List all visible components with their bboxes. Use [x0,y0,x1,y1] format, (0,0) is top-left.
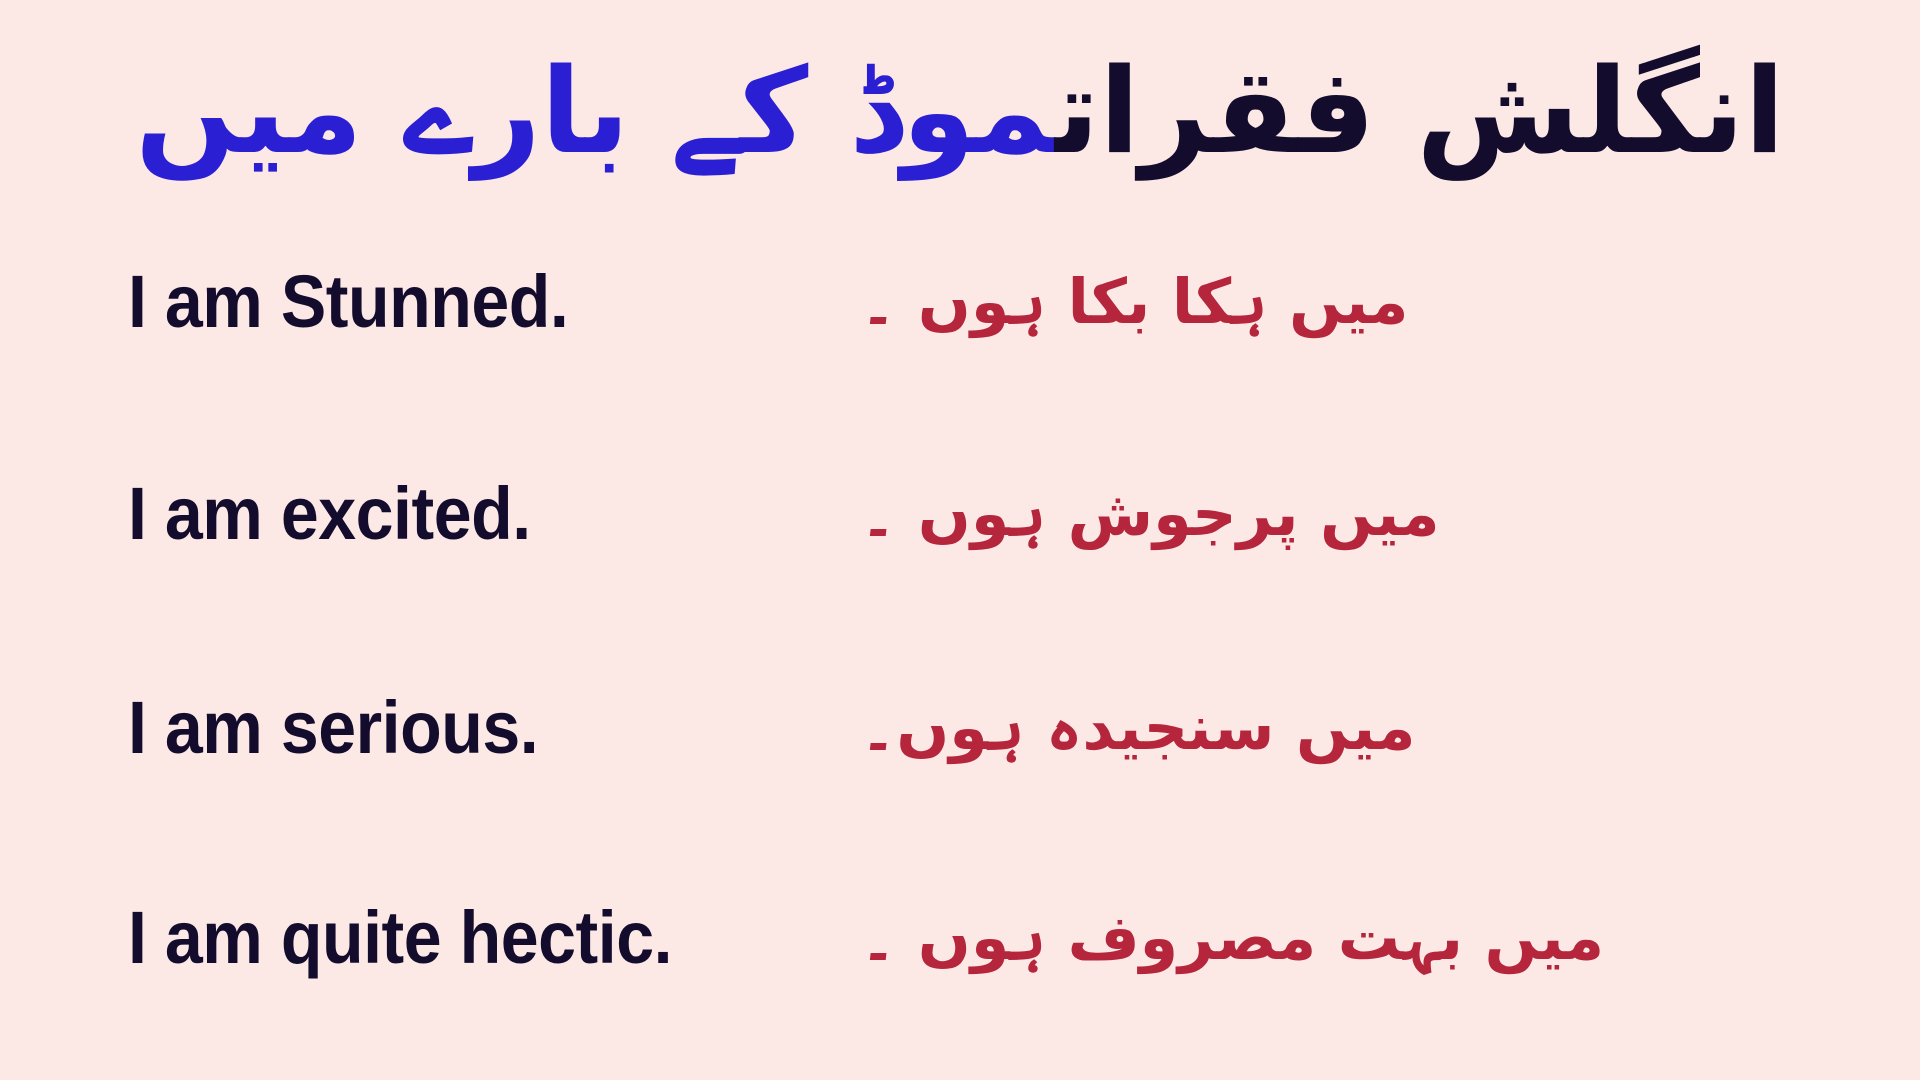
title-line: انگلش فقراتموڈ کے بارے میں [135,42,1785,181]
urdu-phrase: میں بہت مصروف ہوں ۔ [860,899,1604,977]
english-cell: I am serious. [0,691,860,765]
title-segment-blue: موڈ کے بارے میں [135,42,1055,180]
urdu-phrase: میں ہکا بکا ہوں ۔ [860,263,1409,341]
phrase-row: I am serious. میں سنجیدہ ہوں۔ [0,640,1920,815]
english-cell: I am Stunned. [0,265,860,339]
urdu-cell: میں بہت مصروف ہوں ۔ [860,899,1920,977]
english-phrase: I am excited. [128,477,531,551]
phrase-list: I am Stunned. میں ہکا بکا ہوں ۔ I am exc… [0,208,1920,1080]
title-segment-navy: انگلش فقرات [1055,42,1785,180]
phrase-row: I am quite hectic. میں بہت مصروف ہوں ۔ [0,850,1920,1025]
english-cell: I am quite hectic. [0,901,860,975]
urdu-phrase: میں پرجوش ہوں ۔ [860,475,1440,553]
urdu-phrase: میں سنجیدہ ہوں۔ [860,689,1416,767]
english-cell: I am excited. [0,477,860,551]
urdu-cell: میں سنجیدہ ہوں۔ [860,689,1920,767]
phrase-row: I am excited. میں پرجوش ہوں ۔ [0,426,1920,601]
phrase-row: I am Stunned. میں ہکا بکا ہوں ۔ [0,214,1920,389]
page-title: انگلش فقراتموڈ کے بارے میں [0,14,1920,209]
urdu-cell: میں پرجوش ہوں ۔ [860,475,1920,553]
english-phrase: I am quite hectic. [128,901,672,975]
urdu-cell: میں ہکا بکا ہوں ۔ [860,263,1920,341]
poster-canvas: انگلش فقراتموڈ کے بارے میں I am Stunned.… [0,0,1920,1080]
english-phrase: I am serious. [128,691,538,765]
english-phrase: I am Stunned. [128,265,568,339]
